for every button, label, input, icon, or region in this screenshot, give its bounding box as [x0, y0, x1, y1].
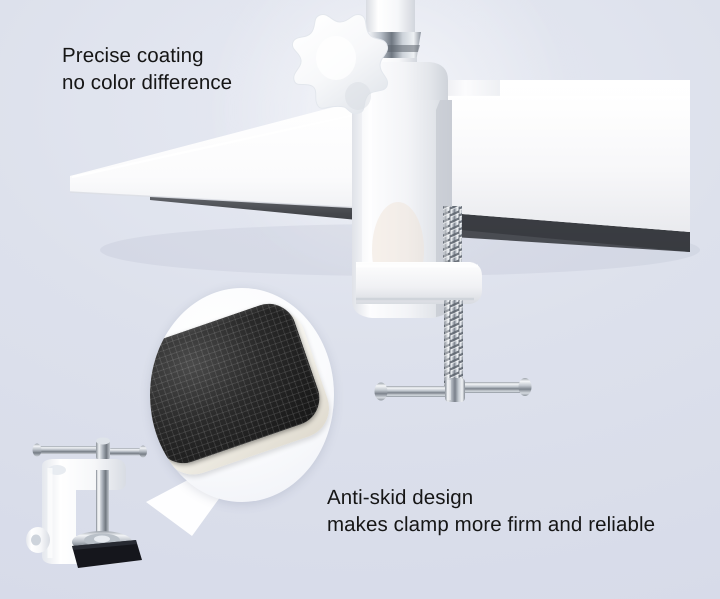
annotation-bottom: Anti-skid design makes clamp more firm a…	[327, 484, 655, 539]
mini-tbar	[33, 438, 148, 461]
t-bar-handle[interactable]	[375, 378, 532, 402]
magnifier-callout	[150, 288, 334, 502]
annotation-top-line1: Precise coating	[62, 44, 204, 67]
anti-skid-pad	[150, 288, 334, 502]
clamp-lower-arm	[356, 262, 482, 304]
tbar-right-arm[interactable]	[460, 382, 528, 393]
annotation-bottom-line1: Anti-skid design	[327, 486, 473, 509]
clamp-arm-body	[356, 262, 482, 304]
annotation-bottom-line2: makes clamp more firm and reliable	[327, 513, 655, 536]
annotation-top: Precise coating no color difference	[62, 42, 232, 97]
tbar-left-cap	[375, 383, 388, 401]
tbar-left-arm[interactable]	[378, 386, 450, 397]
desk-front-face	[437, 96, 690, 232]
callout-circle	[150, 288, 334, 502]
product-feature-image: Precise coating no color difference Anti…	[0, 0, 720, 599]
tbar-hub-gloss	[447, 380, 451, 400]
annotation-top-line2: no color difference	[62, 71, 232, 94]
clamp-product-shot	[12, 418, 164, 578]
rod-gloss-upper	[444, 206, 448, 266]
threaded-rod-upper	[443, 206, 462, 266]
tbar-right-cap	[519, 378, 532, 396]
knob-shade	[345, 82, 371, 110]
knob-highlight	[316, 36, 356, 80]
